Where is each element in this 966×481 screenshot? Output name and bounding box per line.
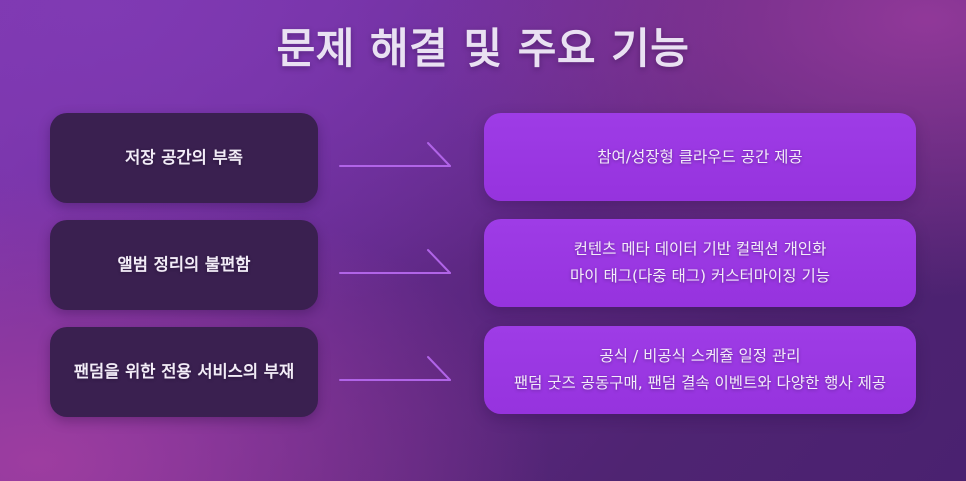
page-title: 문제 해결 및 주요 기능 (0, 22, 966, 76)
solution-card-1: 참여/성장형 클라우드 공간 제공 (484, 113, 916, 201)
solution-card-3: 공식 / 비공식 스케쥴 일정 관리 팬덤 굿즈 공동구매, 팬덤 결속 이벤트… (484, 326, 916, 414)
solution-card-1-label: 참여/성장형 클라우드 공간 제공 (597, 144, 802, 171)
problem-card-1: 저장 공간의 부족 (50, 113, 318, 203)
solution-card-3-label: 공식 / 비공식 스케쥴 일정 관리 팬덤 굿즈 공동구매, 팬덤 결속 이벤트… (514, 343, 886, 397)
arrow-right-icon-1 (338, 138, 462, 178)
problem-card-2-label: 앨범 정리의 불편함 (118, 252, 251, 278)
solution-card-2: 컨텐츠 메타 데이터 기반 컬렉션 개인화 마이 태그(다중 태그) 커스터마이… (484, 219, 916, 307)
solution-card-2-label: 컨텐츠 메타 데이터 기반 컬렉션 개인화 마이 태그(다중 태그) 커스터마이… (570, 236, 830, 290)
problem-card-1-label: 저장 공간의 부족 (125, 145, 243, 171)
arrow-right-icon-3 (338, 352, 462, 392)
problem-card-2: 앨범 정리의 불편함 (50, 220, 318, 310)
arrow-right-icon-2 (338, 245, 462, 285)
problem-card-3: 팬덤을 위한 전용 서비스의 부재 (50, 327, 318, 417)
slide-canvas: 문제 해결 및 주요 기능 저장 공간의 부족 참여/성장형 클라우드 공간 제… (0, 0, 966, 481)
problem-card-3-label: 팬덤을 위한 전용 서비스의 부재 (74, 359, 294, 385)
